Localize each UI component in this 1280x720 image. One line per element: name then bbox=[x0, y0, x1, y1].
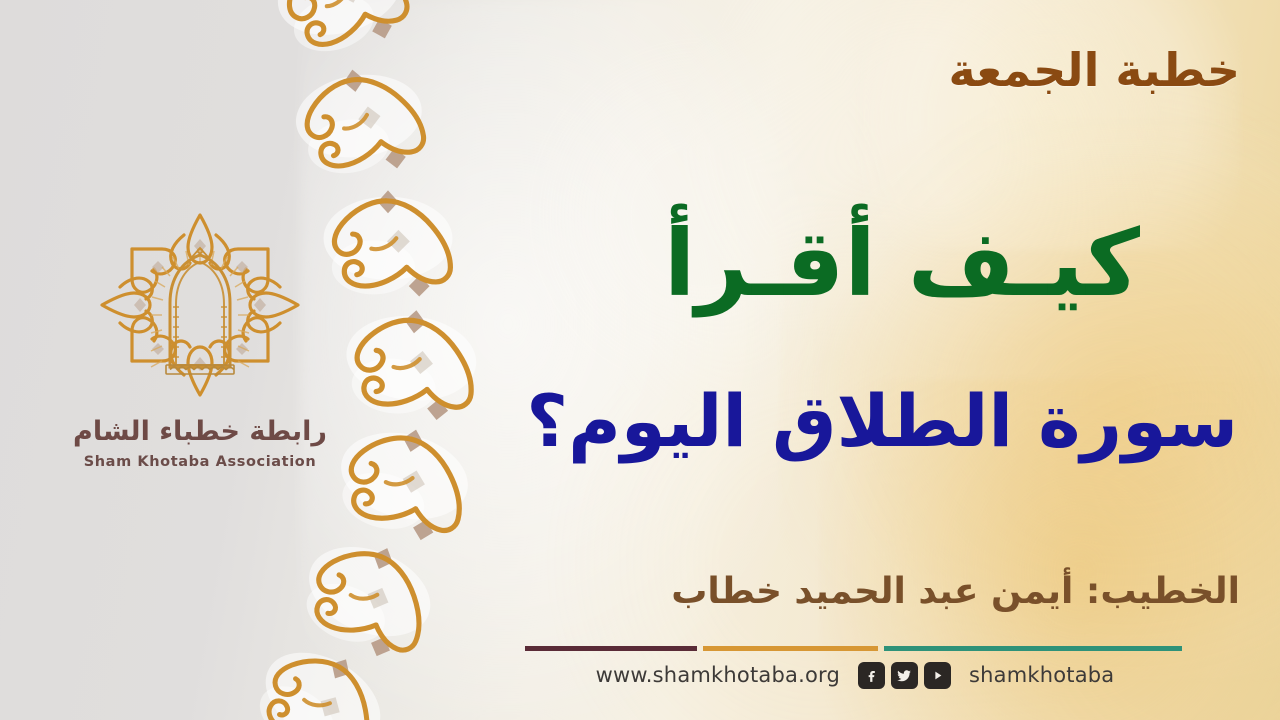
social-icon-group bbox=[858, 662, 951, 689]
speaker-name: الخطيب: أيمن عبد الحميد خطاب bbox=[671, 570, 1240, 613]
youtube-icon[interactable] bbox=[924, 662, 951, 689]
facebook-icon[interactable] bbox=[858, 662, 885, 689]
footer-bar: www.shamkhotaba.org shamkhotaba bbox=[525, 658, 1185, 692]
logo-name-arabic: رابطة خطباء الشام bbox=[60, 417, 340, 447]
eyebrow-label: خطبة الجمعة bbox=[948, 44, 1240, 97]
logo-name-english: Sham Khotaba Association bbox=[60, 454, 340, 470]
khutbah-slide: رابطة خطباء الشام Sham Khotaba Associati… bbox=[0, 0, 1280, 720]
footer-divider-segment-1 bbox=[525, 646, 697, 651]
subheadline-title: سورة الطلاق اليوم؟ bbox=[526, 382, 1238, 461]
twitter-icon[interactable] bbox=[891, 662, 918, 689]
brand-logo: رابطة خطباء الشام Sham Khotaba Associati… bbox=[60, 205, 340, 470]
footer-divider-segment-2 bbox=[703, 646, 878, 651]
mihrab-arch-logo-icon bbox=[88, 205, 312, 405]
website-url[interactable]: www.shamkhotaba.org bbox=[596, 663, 840, 687]
footer-divider bbox=[525, 646, 1182, 651]
social-handle[interactable]: shamkhotaba bbox=[969, 663, 1114, 687]
headline-title: كيـف أقـرأ bbox=[664, 216, 1140, 313]
footer-divider-segment-3 bbox=[884, 646, 1182, 651]
